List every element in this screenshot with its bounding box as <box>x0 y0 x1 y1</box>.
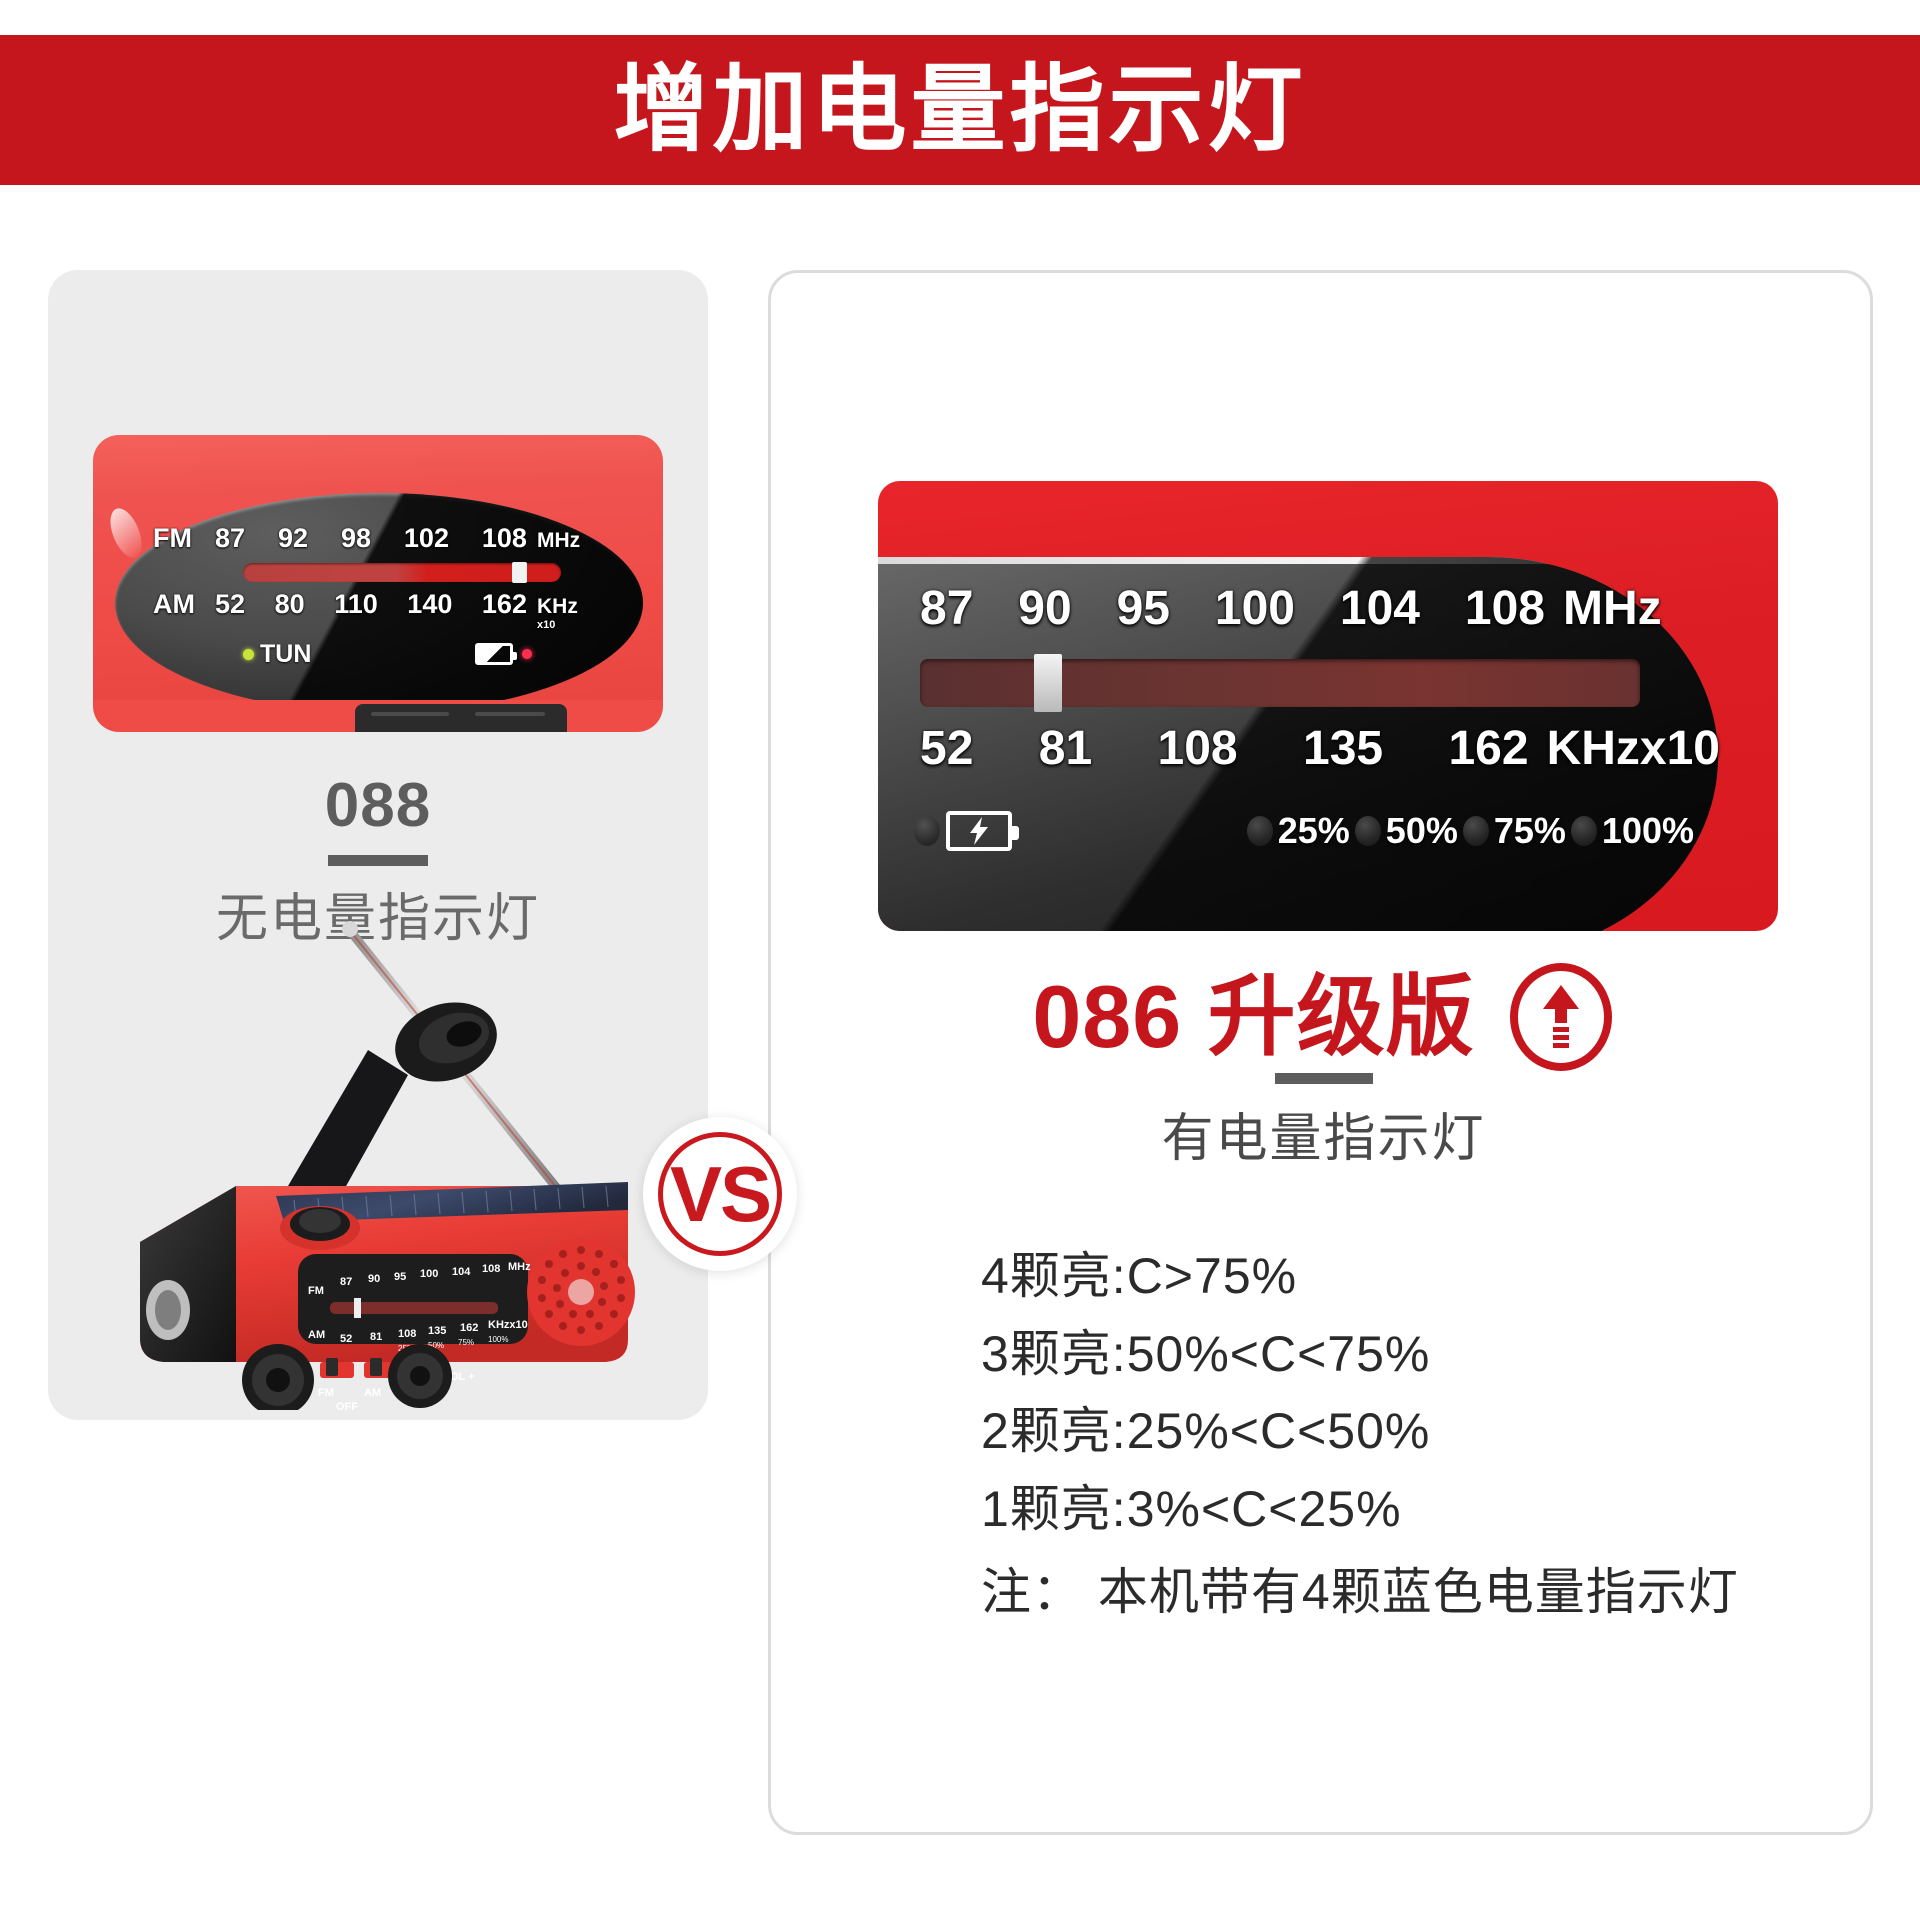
level-led-icon <box>1247 816 1273 846</box>
radio-faceplate-086: 87 90 95 100 104 108 MHz 52 81 <box>878 481 1778 931</box>
fm-tick: 95 <box>1117 581 1170 636</box>
am-tick: 81 <box>1039 721 1092 776</box>
tune-led-icon <box>243 649 254 660</box>
tuning-slider-088[interactable] <box>243 563 561 582</box>
am-scale-row-086: 52 81 108 135 162 KHzx10 <box>920 721 1720 776</box>
battery-indicator-088 <box>475 643 532 665</box>
svg-text:MHz: MHz <box>508 1261 531 1273</box>
flashlight-housing <box>140 1186 236 1362</box>
right-model-headline: 086 升级版 <box>1032 973 1474 1061</box>
fm-unit-label: MHz <box>1545 581 1720 636</box>
spec-item: 3颗亮:50%<C<75% <box>981 1316 1841 1394</box>
left-comparison-card: FM 87 92 98 102 108 MHz AM <box>48 270 708 1420</box>
tune-indicator-088: TUN <box>243 640 311 669</box>
battery-led-icon <box>522 649 532 659</box>
fm-scale-row-088: FM 87 92 98 102 108 MHz <box>153 523 603 554</box>
am-tick: 140 <box>407 589 452 620</box>
upgrade-arrow-icon <box>1507 963 1615 1071</box>
svg-text:52: 52 <box>340 1333 352 1345</box>
dial-scale-086: 87 90 95 100 104 108 MHz 52 81 <box>878 481 1778 931</box>
am-scale-row-088: AM 52 80 110 140 162 KHz x10 <box>153 589 603 620</box>
caption-divider <box>1275 1073 1373 1084</box>
svg-text:FM: FM <box>318 1387 334 1399</box>
fm-tick: 102 <box>404 523 449 554</box>
svg-text:90: 90 <box>368 1273 380 1285</box>
tuning-needle-086[interactable] <box>1034 654 1062 712</box>
right-caption-group: 有电量指示灯 <box>771 1073 1876 1171</box>
am-tick: 52 <box>920 721 973 776</box>
am-tick: 52 <box>215 589 245 620</box>
fm-tick: 108 <box>482 523 527 554</box>
battery-icon <box>475 643 513 665</box>
am-tick: 108 <box>1158 721 1238 776</box>
am-tick: 162 <box>1448 721 1528 776</box>
vs-ring: VS <box>658 1132 782 1256</box>
svg-text:AM: AM <box>364 1387 381 1399</box>
spec-note: 注： 本机带有4颗蓝色电量指示灯 <box>981 1554 1841 1632</box>
am-tick: 80 <box>275 589 305 620</box>
crank-knob <box>280 1206 360 1250</box>
fm-tick: 87 <box>215 523 245 554</box>
battery-charging-icon <box>946 811 1012 851</box>
fm-ticks: 87 92 98 102 108 <box>215 523 529 554</box>
tune-label: TUN <box>260 640 311 669</box>
speaker-grille <box>527 1238 635 1346</box>
product-photo-radio: FM AM 879095 100104108 MHz 5281108 13516… <box>68 910 708 1410</box>
fm-tick: 98 <box>341 523 371 554</box>
comparison-stage: FM 87 92 98 102 108 MHz AM <box>0 185 1920 1920</box>
svg-text:KHzx10: KHzx10 <box>488 1319 528 1331</box>
svg-text:95: 95 <box>394 1271 406 1283</box>
level-led-icon <box>1355 816 1381 846</box>
am-unit-text: KHz <box>537 595 578 618</box>
tuning-needle-088[interactable] <box>512 562 527 583</box>
vs-badge: VS <box>643 1117 797 1271</box>
am-unit-multiplier: x10 <box>537 619 555 631</box>
radio-illustration: FM AM 879095 100104108 MHz 5281108 13516… <box>68 910 708 1410</box>
level-label: 50% <box>1386 810 1458 852</box>
svg-text:104: 104 <box>452 1266 471 1278</box>
am-tick: 110 <box>334 589 378 620</box>
radio-faceplate-088: FM 87 92 98 102 108 MHz AM <box>93 435 663 725</box>
fm-band-label: FM <box>153 523 215 554</box>
spec-item: 4颗亮:C>75% <box>981 1238 1841 1316</box>
spec-item: 1颗亮:3%<C<25% <box>981 1471 1841 1549</box>
dial-scale-088: FM 87 92 98 102 108 MHz AM <box>93 435 663 725</box>
svg-text:108: 108 <box>398 1328 416 1340</box>
spec-list: 4颗亮:C>75% 3颗亮:50%<C<75% 2颗亮:25%<C<50% 1颗… <box>981 1238 1841 1632</box>
svg-text:75%: 75% <box>458 1338 474 1347</box>
fm-tick: 92 <box>278 523 308 554</box>
am-unit-label: KHz x10 <box>529 595 603 619</box>
am-unit-label: KHzx10 <box>1529 721 1720 776</box>
level-led-icon <box>1571 816 1597 846</box>
am-ticks: 52 80 110 140 162 <box>215 589 529 620</box>
fm-ticks: 87 90 95 100 104 108 <box>920 581 1545 636</box>
fm-unit-label: MHz <box>529 529 603 553</box>
vs-label: VS <box>670 1155 770 1233</box>
svg-text:162: 162 <box>460 1322 478 1334</box>
tuning-slider-086[interactable] <box>920 659 1640 707</box>
right-headline-group: 086 升级版 <box>771 963 1876 1071</box>
header-banner: 增加电量指示灯 <box>0 35 1920 185</box>
fm-tick: 90 <box>1018 581 1071 636</box>
right-comparison-card: 87 90 95 100 104 108 MHz 52 81 <box>768 270 1873 1835</box>
battery-indicator-row-086: 25% 50% 75% 100% <box>914 801 1724 861</box>
am-tick: 135 <box>1303 721 1383 776</box>
am-band-label: AM <box>153 589 215 620</box>
fm-tick: 87 <box>920 581 973 636</box>
left-model-number: 088 <box>48 770 708 841</box>
svg-text:135: 135 <box>428 1325 446 1337</box>
svg-text:100: 100 <box>420 1268 438 1280</box>
fm-scale-row-086: 87 90 95 100 104 108 MHz <box>920 581 1720 636</box>
charge-led-icon <box>914 816 940 846</box>
page-title: 增加电量指示灯 <box>613 63 1306 158</box>
level-led-icon <box>1463 816 1489 846</box>
svg-text:108: 108 <box>482 1263 500 1275</box>
am-tick: 162 <box>482 589 527 620</box>
spec-item: 2颗亮:25%<C<50% <box>981 1393 1841 1471</box>
svg-text:OFF: OFF <box>336 1401 358 1410</box>
caption-divider <box>328 855 428 866</box>
level-label: 25% <box>1278 810 1350 852</box>
right-caption-text: 有电量指示灯 <box>771 1096 1876 1171</box>
level-label: 75% <box>1494 810 1566 852</box>
svg-text:81: 81 <box>370 1331 382 1343</box>
battery-level-scale: 25% 50% 75% 100% <box>1247 810 1724 852</box>
fm-tick: 108 <box>1465 581 1545 636</box>
level-label: 100% <box>1602 810 1694 852</box>
fm-tick: 100 <box>1215 581 1295 636</box>
fm-tick: 104 <box>1340 581 1420 636</box>
svg-text:100%: 100% <box>488 1335 508 1344</box>
lightning-bolt-icon <box>966 816 992 846</box>
svg-text:AM: AM <box>308 1329 325 1341</box>
svg-text:FM: FM <box>308 1285 324 1297</box>
body-tuning-needle <box>354 1298 361 1318</box>
svg-text:87: 87 <box>340 1276 352 1288</box>
am-ticks: 52 81 108 135 162 <box>920 721 1529 776</box>
charging-status-group <box>914 811 1012 851</box>
volume-knob <box>388 1344 452 1408</box>
